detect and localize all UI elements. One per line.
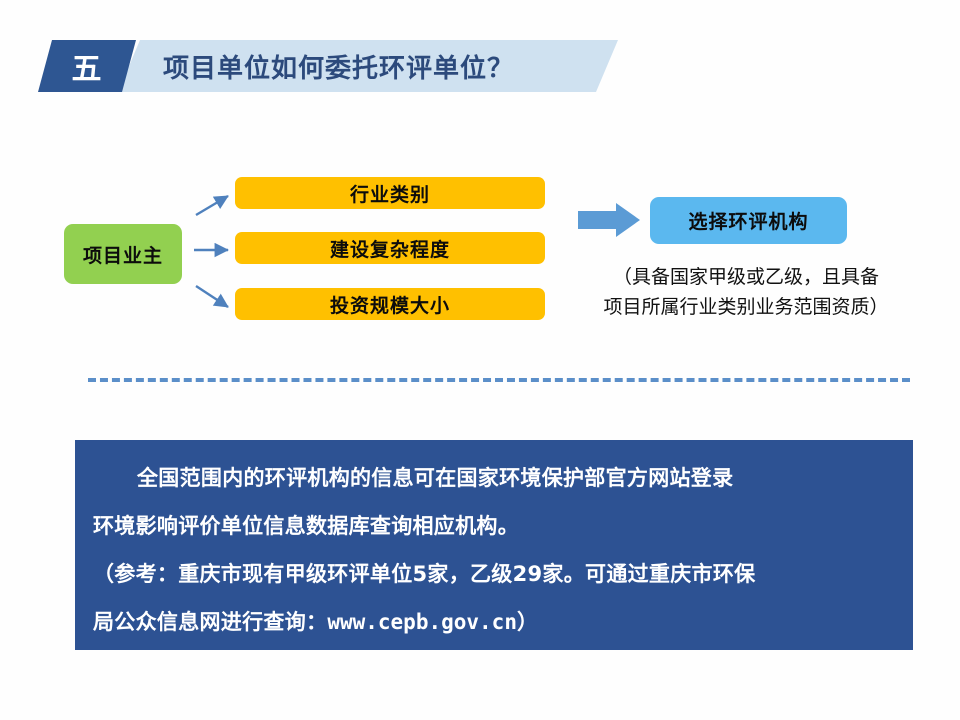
cepb-website-url: www.cepb.gov.cn <box>327 610 517 634</box>
info-paragraph-3: （参考：重庆市现有甲级环评单位5家，乙级29家。可通过重庆市环保 <box>93 550 895 598</box>
info-paragraph-4-suffix: ） <box>517 610 538 634</box>
connector-arrow-1 <box>196 196 228 215</box>
section-number-badge: 五 <box>38 40 136 92</box>
diagram-result-box: 选择环评机构 <box>650 197 847 244</box>
section-number-label: 五 <box>38 40 136 92</box>
connector-arrow-3 <box>196 286 228 307</box>
diagram-result-note: （具备国家甲级或乙级，且具备 项目所属行业类别业务范围资质） <box>556 262 936 322</box>
info-paragraph-2: 环境影响评价单位信息数据库查询相应机构。 <box>93 502 895 550</box>
info-panel: 全国范围内的环评机构的信息可在国家环境保护部官方网站登录 环境影响评价单位信息数… <box>75 440 913 650</box>
diagram-factor-label-1: 行业类别 <box>350 180 430 207</box>
info-paragraph-4: 局公众信息网进行查询：www.cepb.gov.cn） <box>93 598 895 646</box>
diagram-factor-box-3: 投资规模大小 <box>235 288 545 320</box>
slide-header: 五 项目单位如何委托环评单位？ <box>0 40 960 102</box>
dashed-divider <box>88 378 910 382</box>
diagram-result-label: 选择环评机构 <box>688 207 808 234</box>
diagram-source-label: 项目业主 <box>83 241 163 268</box>
info-panel-text: 全国范围内的环评机构的信息可在国家环境保护部官方网站登录 环境影响评价单位信息数… <box>93 454 895 646</box>
info-paragraph-4-prefix: 局公众信息网进行查询： <box>93 610 327 634</box>
diagram-result-note-line1: （具备国家甲级或乙级，且具备 <box>556 262 936 292</box>
diagram-factor-box-2: 建设复杂程度 <box>235 232 545 264</box>
diagram-factor-label-2: 建设复杂程度 <box>330 235 450 262</box>
diagram-source-box: 项目业主 <box>64 224 182 284</box>
diagram-factor-label-3: 投资规模大小 <box>330 291 450 318</box>
page-title: 项目单位如何委托环评单位？ <box>163 40 514 92</box>
info-paragraph-1: 全国范围内的环评机构的信息可在国家环境保护部官方网站登录 <box>93 454 895 502</box>
diagram-result-note-line2: 项目所属行业类别业务范围资质） <box>556 292 936 322</box>
diagram-factor-box-1: 行业类别 <box>235 177 545 209</box>
slide-canvas: 五 项目单位如何委托环评单位？ 项目业主 行业类别 建设复杂程度 投资规模大小 … <box>0 0 960 720</box>
right-arrow-icon <box>578 203 640 237</box>
